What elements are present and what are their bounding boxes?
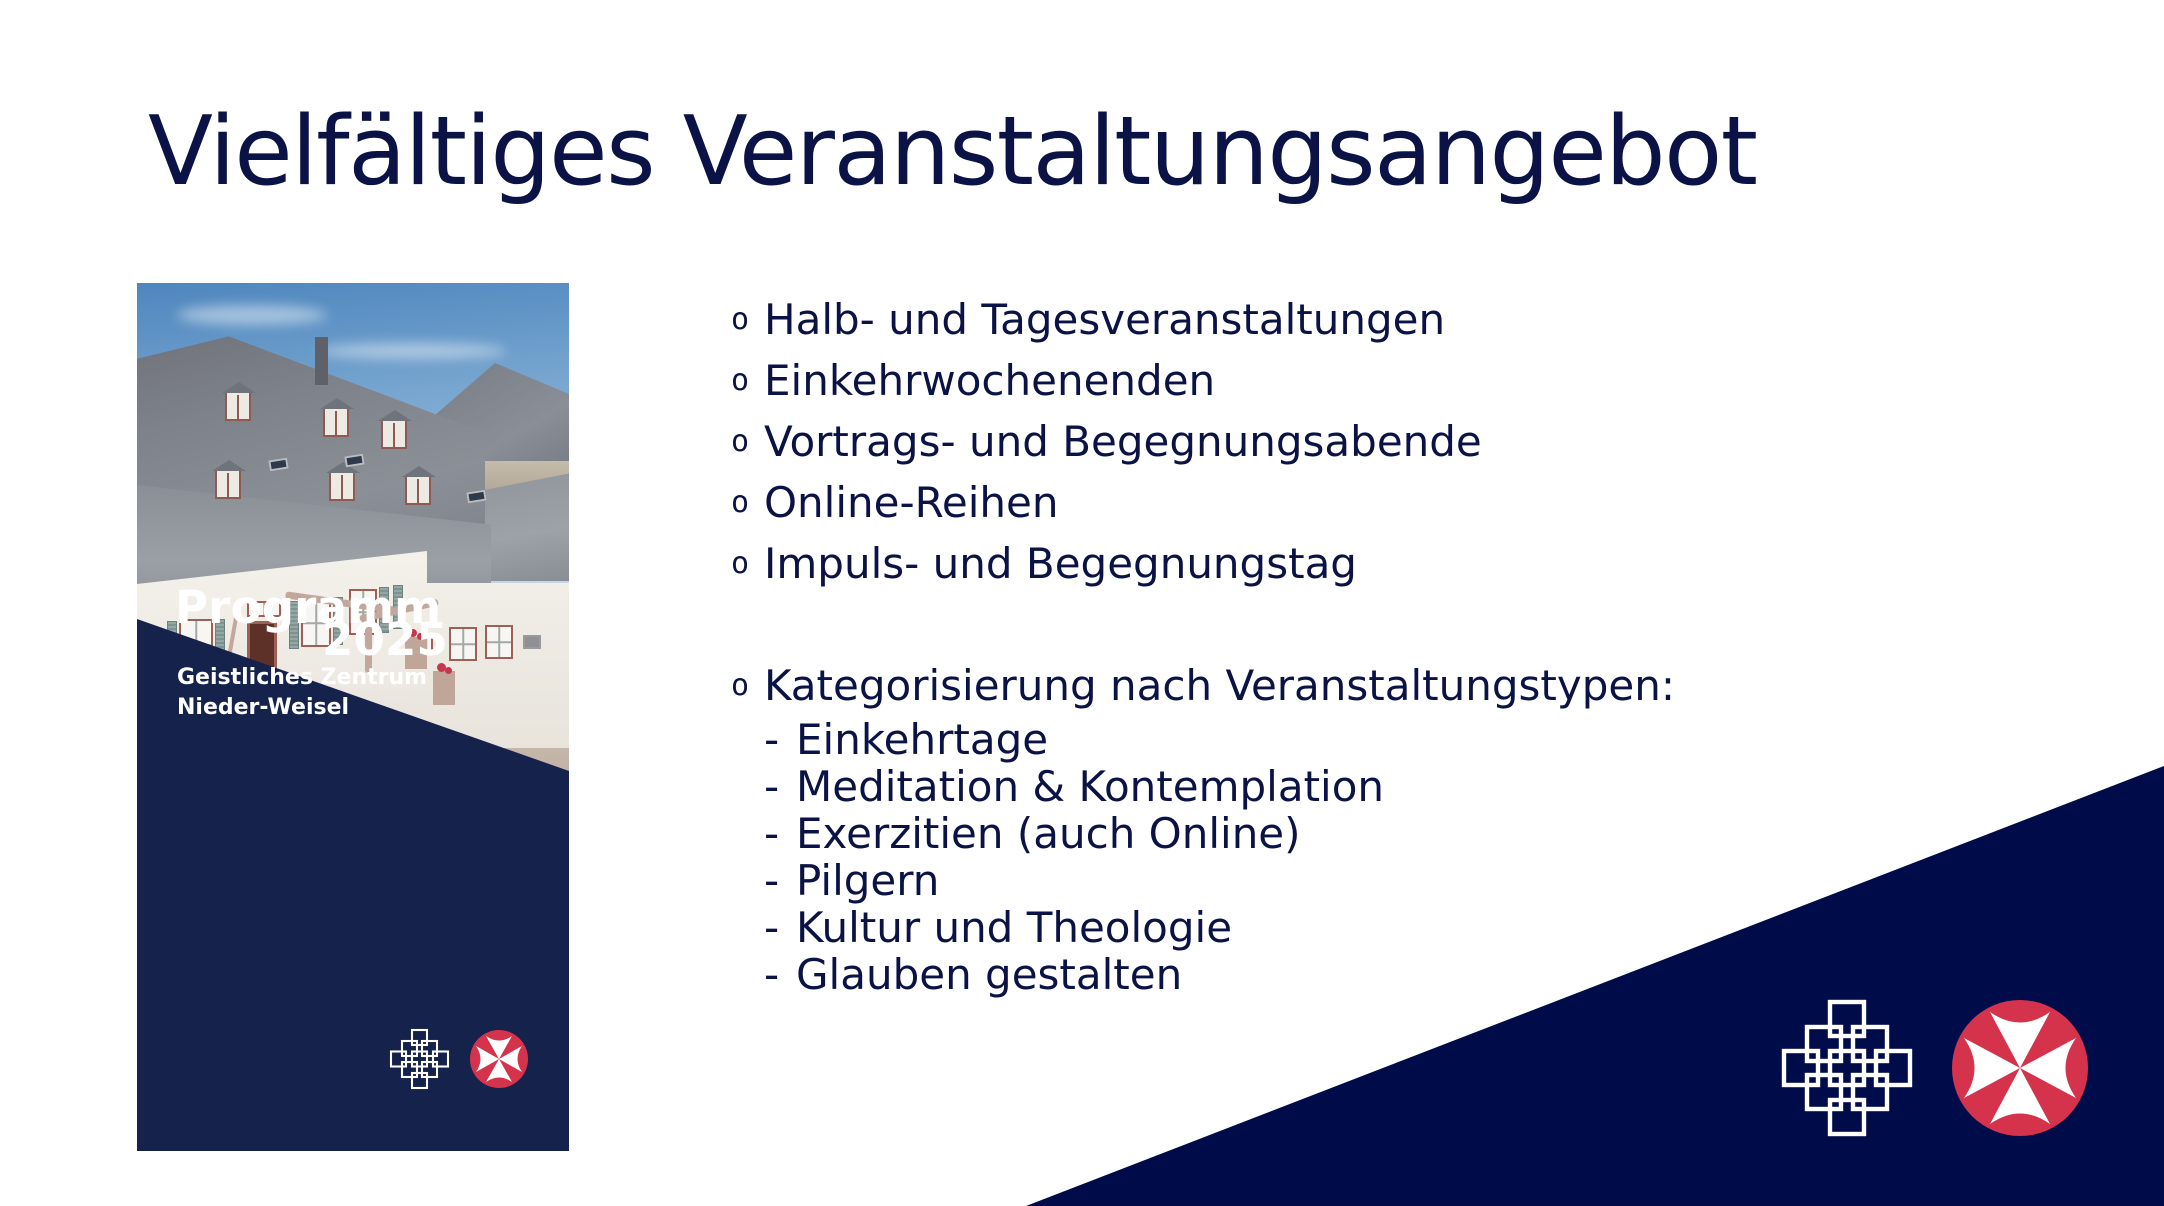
maltese-cross-logo — [470, 1030, 528, 1088]
list-item: o Vortrags- und Begegnungsabende — [731, 411, 1981, 472]
dash-marker-icon: - — [764, 716, 796, 763]
maltese-cross-logo — [1952, 1000, 2088, 1136]
sub-list-item-label: Pilgern — [796, 857, 939, 904]
slide-canvas: Vielfältiges Veranstaltungsangebot — [0, 0, 2164, 1206]
list-item-group-header: o Kategorisierung nach Veranstaltungstyp… — [731, 655, 1981, 716]
list-item: o Halb- und Tagesveranstaltungen — [731, 289, 1981, 350]
dash-marker-icon: - — [764, 810, 796, 857]
brochure-subtitle-line1: Geistliches Zentrum — [177, 665, 427, 690]
brochure-year: 2025 — [322, 613, 448, 666]
brochure-logos — [389, 1028, 529, 1090]
dash-marker-icon: - — [764, 951, 796, 998]
dash-marker-icon: - — [764, 904, 796, 951]
bullet-marker-icon: o — [731, 472, 764, 533]
list-item-label: Halb- und Tagesveranstaltungen — [764, 289, 1445, 350]
page-title: Vielfältiges Veranstaltungsangebot — [148, 104, 1948, 201]
list-item-label: Online-Reihen — [764, 472, 1059, 533]
sub-list-item: - Einkehrtage — [731, 716, 1981, 763]
dash-marker-icon: - — [764, 763, 796, 810]
list-item-label: Kategorisierung nach Veranstaltungstypen… — [764, 655, 1675, 716]
sub-list-item: - Pilgern — [731, 857, 1981, 904]
list-item-label: Vortrags- und Begegnungsabende — [764, 411, 1482, 472]
list-spacer — [731, 594, 1981, 655]
bullet-list: o Halb- und Tagesveranstaltungen o Einke… — [731, 289, 1981, 998]
brochure-photo — [137, 283, 569, 843]
sub-list-item-label: Exerzitien (auch Online) — [796, 810, 1301, 857]
sub-list-item: - Glauben gestalten — [731, 951, 1981, 998]
list-item: o Impuls- und Begegnungstag — [731, 533, 1981, 594]
brochure-navy-wedge — [137, 283, 569, 843]
johanniter-block-cross-logo — [391, 1030, 448, 1088]
corner-logos — [1780, 998, 2100, 1138]
bullet-marker-icon: o — [731, 533, 764, 594]
brochure-subtitle-line2: Nieder-Weisel — [177, 695, 349, 720]
johanniter-block-cross-logo — [1784, 1002, 1910, 1134]
list-item-label: Einkehrwochenenden — [764, 350, 1215, 411]
sub-list-item-label: Einkehrtage — [796, 716, 1048, 763]
sub-list-item: - Kultur und Theologie — [731, 904, 1981, 951]
sub-list-item-label: Meditation & Kontemplation — [796, 763, 1384, 810]
sub-list-item: - Meditation & Kontemplation — [731, 763, 1981, 810]
sub-list-item-label: Kultur und Theologie — [796, 904, 1232, 951]
list-item: o Einkehrwochenenden — [731, 350, 1981, 411]
bullet-marker-icon: o — [731, 350, 764, 411]
sub-list-item: - Exerzitien (auch Online) — [731, 810, 1981, 857]
list-item: o Online-Reihen — [731, 472, 1981, 533]
bullet-marker-icon: o — [731, 655, 764, 716]
list-item-label: Impuls- und Begegnungstag — [764, 533, 1357, 594]
sub-list-item-label: Glauben gestalten — [796, 951, 1182, 998]
bullet-marker-icon: o — [731, 289, 764, 350]
bullet-marker-icon: o — [731, 411, 764, 472]
brochure-cover-image: Programm 2025 Geistliches Zentrum Nieder… — [137, 283, 569, 1151]
dash-marker-icon: - — [764, 857, 796, 904]
